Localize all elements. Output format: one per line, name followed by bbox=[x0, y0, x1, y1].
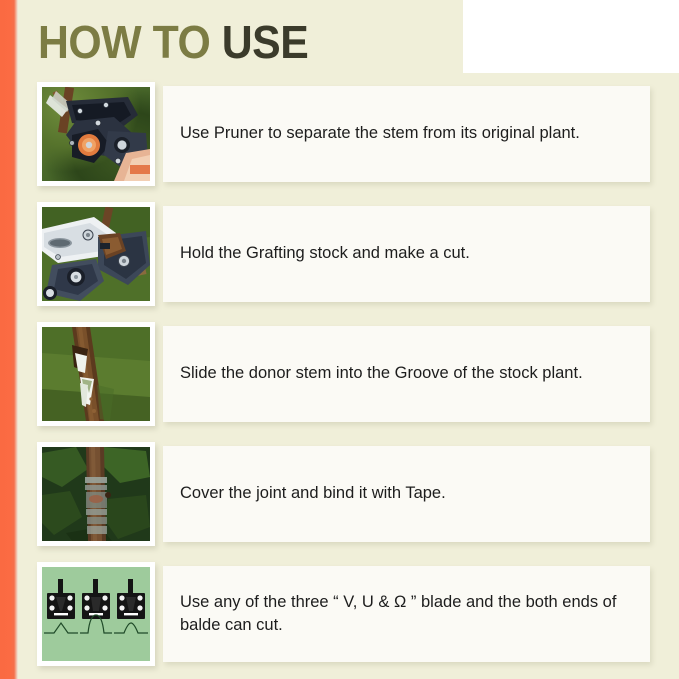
list-item: Use any of the three “ V, U & Ω ” blade … bbox=[0, 562, 679, 679]
step-text-panel-3: Slide the donor stem into the Groove of … bbox=[163, 326, 650, 422]
pruner-cutting-stem-photo bbox=[42, 87, 150, 181]
taped-graft-joint-photo bbox=[42, 447, 150, 541]
step-thumbnail-3 bbox=[37, 322, 155, 426]
step-text-panel-5: Use any of the three “ V, U & Ω ” blade … bbox=[163, 566, 650, 662]
step-text-panel-4: Cover the joint and bind it with Tape. bbox=[163, 446, 650, 542]
how-to-use-infographic: HOW TO USE bbox=[0, 0, 679, 679]
grafting-tool-blade-photo bbox=[42, 207, 150, 301]
step-text-4: Cover the joint and bind it with Tape. bbox=[180, 482, 446, 505]
list-item: Slide the donor stem into the Groove of … bbox=[0, 322, 679, 442]
list-item: Cover the joint and bind it with Tape. bbox=[0, 442, 679, 562]
step-thumbnail-2 bbox=[37, 202, 155, 306]
list-item: Use Pruner to separate the stem from its… bbox=[0, 82, 679, 202]
list-item: Hold the Grafting stock and make a cut. bbox=[0, 202, 679, 322]
step-thumbnail-1 bbox=[37, 82, 155, 186]
step-text-1: Use Pruner to separate the stem from its… bbox=[180, 122, 580, 145]
three-blade-modules-diagram bbox=[42, 567, 150, 661]
page-title-secondary: USE bbox=[222, 16, 309, 68]
steps-list: Use Pruner to separate the stem from its… bbox=[0, 82, 679, 679]
step-text-5: Use any of the three “ V, U & Ω ” blade … bbox=[180, 591, 634, 638]
page-title: HOW TO USE bbox=[38, 12, 329, 72]
step-text-2: Hold the Grafting stock and make a cut. bbox=[180, 242, 470, 265]
step-text-panel-2: Hold the Grafting stock and make a cut. bbox=[163, 206, 650, 302]
step-text-3: Slide the donor stem into the Groove of … bbox=[180, 362, 583, 385]
v-notch-cut-branch-photo bbox=[42, 327, 150, 421]
top-right-white-block bbox=[463, 0, 679, 73]
step-text-panel-1: Use Pruner to separate the stem from its… bbox=[163, 86, 650, 182]
page-title-primary: HOW TO bbox=[38, 16, 222, 68]
step-thumbnail-5 bbox=[37, 562, 155, 666]
step-thumbnail-4 bbox=[37, 442, 155, 546]
